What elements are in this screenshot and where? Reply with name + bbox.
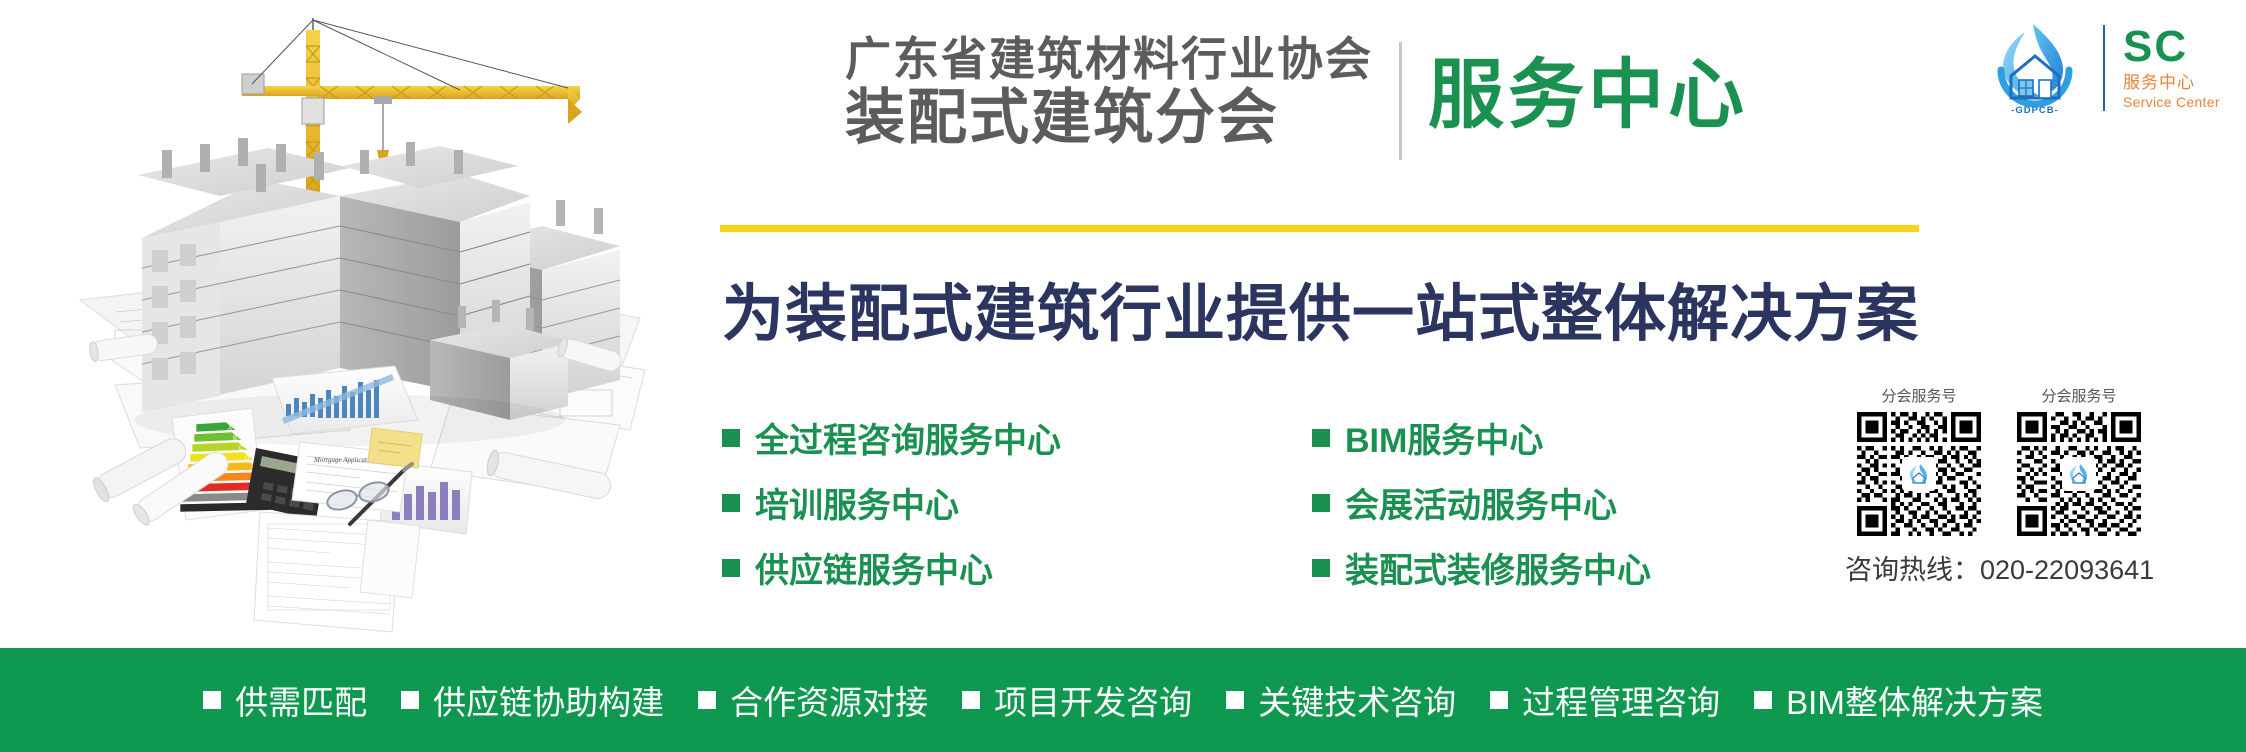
service-item-label: BIM服务中心 <box>1345 413 1543 462</box>
hotline-text: 咨询热线：020-22093641 <box>1845 548 2225 587</box>
gdpcb-logo-icon: -GDPCB- <box>1985 18 2085 118</box>
qr-contact-block: 分会服务号 <box>1855 385 2225 587</box>
bullet-square-icon <box>1312 559 1330 577</box>
service-item[interactable]: 供应链服务中心 <box>722 543 1312 592</box>
sc-subtitle-en: Service Center <box>2123 94 2220 111</box>
bar-item[interactable]: 供应链协助构建 <box>401 676 664 724</box>
qr-code-image-2[interactable] <box>2017 412 2141 536</box>
qr-row: 分会服务号 <box>1855 385 2225 536</box>
service-center-heading: 服务中心 <box>1428 58 1748 134</box>
bullet-square-icon <box>722 559 740 577</box>
service-item[interactable]: 会展活动服务中心 <box>1312 478 1802 527</box>
svg-text:A: A <box>228 426 232 432</box>
bullet-square-icon <box>1312 429 1330 447</box>
association-name: 广东省建筑材料行业协会 装配式建筑分会 <box>845 36 1373 148</box>
bar-item[interactable]: 过程管理咨询 <box>1490 676 1720 724</box>
service-item[interactable]: 培训服务中心 <box>722 478 1312 527</box>
bullet-square-icon <box>962 691 980 709</box>
qr-item: 分会服务号 <box>2015 385 2143 536</box>
bullet-square-icon <box>722 494 740 512</box>
bar-item[interactable]: 项目开发咨询 <box>962 676 1192 724</box>
qr-label: 分会服务号 <box>2041 385 2116 406</box>
service-item[interactable]: 装配式装修服务中心 <box>1312 543 1802 592</box>
svg-text:C: C <box>239 446 244 452</box>
bullet-square-icon <box>203 691 221 709</box>
bar-item[interactable]: 供需匹配 <box>203 676 367 724</box>
association-name-line2: 装配式建筑分会 <box>845 88 1373 148</box>
title-divider <box>1399 42 1402 160</box>
service-item-label: 装配式装修服务中心 <box>1345 543 1651 592</box>
bullet-square-icon <box>401 691 419 709</box>
bar-item[interactable]: 关键技术咨询 <box>1226 676 1456 724</box>
bar-item[interactable]: 合作资源对接 <box>698 676 928 724</box>
bar-item-label: 合作资源对接 <box>730 676 928 724</box>
sc-logo: SC 服务中心 Service Center <box>2123 25 2220 110</box>
service-item-label: 全过程咨询服务中心 <box>755 413 1061 462</box>
bar-item-label: 关键技术咨询 <box>1258 676 1456 724</box>
svg-text:B: B <box>233 436 237 442</box>
qr-label: 分会服务号 <box>1881 385 1956 406</box>
sc-wordmark: SC <box>2123 25 2188 69</box>
service-center-list: 全过程咨询服务中心 BIM服务中心 培训服务中心 会展活动服务中心 供应链服务中… <box>722 405 1802 600</box>
sc-subtitle-cn: 服务中心 <box>2123 72 2195 93</box>
association-name-line1: 广东省建筑材料行业协会 <box>845 36 1373 82</box>
qr-code-image-1[interactable] <box>1857 412 1981 536</box>
qr-center-logo <box>1902 457 1936 491</box>
svg-text:Mortgage Application: Mortgage Application <box>313 456 376 464</box>
bar-item-label: 项目开发咨询 <box>994 676 1192 724</box>
gdpcb-wordmark: -GDPCB- <box>2011 105 2059 116</box>
bar-item-label: 供需匹配 <box>235 676 367 724</box>
qr-item: 分会服务号 <box>1855 385 1983 536</box>
bottom-service-bar: 供需匹配 供应链协助构建 合作资源对接 项目开发咨询 关键技术咨询 过程管理咨询… <box>0 648 2246 752</box>
logo-separator <box>2103 25 2105 111</box>
header-title-block: 广东省建筑材料行业协会 装配式建筑分会 服务中心 <box>845 36 1748 160</box>
bullet-square-icon <box>1226 691 1244 709</box>
bullet-square-icon <box>698 691 716 709</box>
construction-illustration: ABC DEF GHI <box>20 0 660 650</box>
service-item-label: 会展活动服务中心 <box>1345 478 1617 527</box>
bullet-square-icon <box>722 429 740 447</box>
bullet-square-icon <box>1312 494 1330 512</box>
yellow-divider-rule <box>720 225 1919 232</box>
svg-text:D: D <box>245 456 250 462</box>
service-item[interactable]: 全过程咨询服务中心 <box>722 413 1312 462</box>
service-item-label: 培训服务中心 <box>755 478 959 527</box>
brand-logo-group: -GDPCB- SC 服务中心 Service Center <box>1985 18 2220 118</box>
bar-item[interactable]: BIM整体解决方案 <box>1754 676 2043 724</box>
service-item-label: 供应链服务中心 <box>755 543 993 592</box>
tagline: 为装配式建筑行业提供一站式整体解决方案 <box>722 263 1919 353</box>
banner-root: ABC DEF GHI <box>0 0 2246 752</box>
bar-item-label: BIM整体解决方案 <box>1786 676 2043 724</box>
bullet-square-icon <box>1754 691 1772 709</box>
qr-center-logo <box>2062 457 2096 491</box>
service-item[interactable]: BIM服务中心 <box>1312 413 1802 462</box>
bar-item-label: 供应链协助构建 <box>433 676 664 724</box>
bullet-square-icon <box>1490 691 1508 709</box>
bar-item-label: 过程管理咨询 <box>1522 676 1720 724</box>
